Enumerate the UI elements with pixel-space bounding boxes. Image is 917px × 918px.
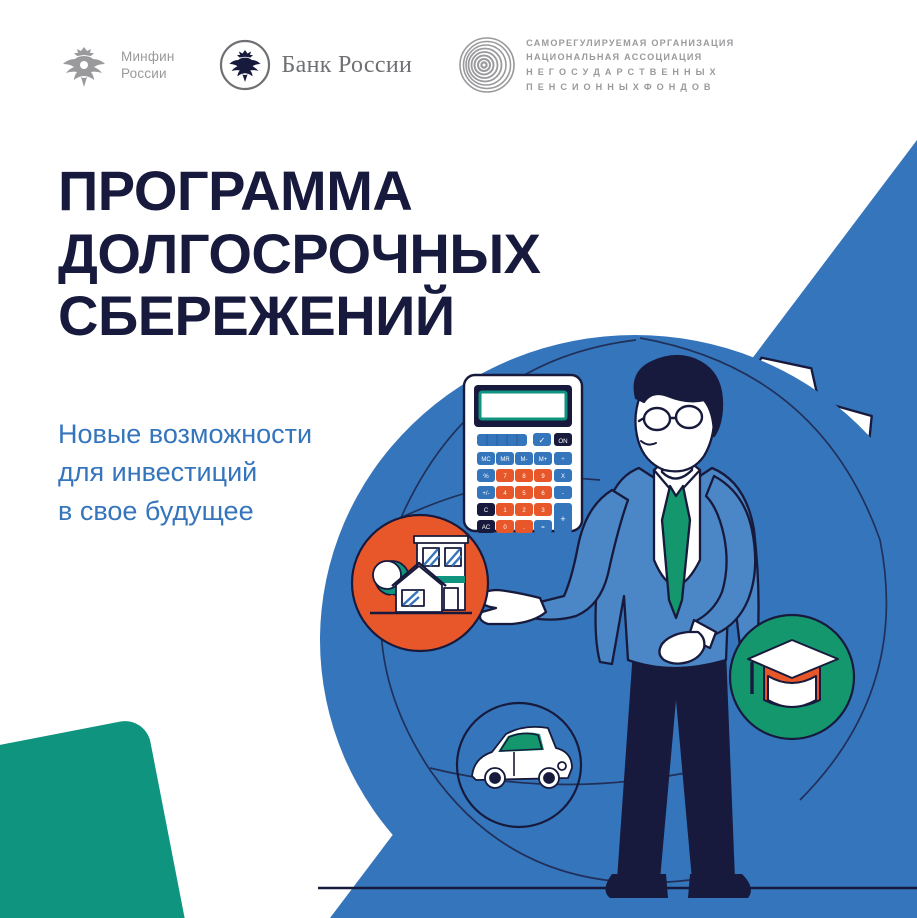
svg-text:M-: M- (521, 457, 528, 463)
shoe-left (605, 874, 668, 898)
logo-minfin-text: Минфин России (121, 48, 175, 83)
svg-text:%: % (483, 474, 489, 480)
house-badge (352, 515, 488, 651)
svg-text:✓: ✓ (539, 436, 546, 445)
svg-text:C: C (484, 508, 489, 514)
svg-text:=: = (541, 525, 545, 531)
svg-text:+: + (560, 514, 565, 524)
calculator: ✓ ON MC MR M- M+ ÷ % 7 8 9 X +/- 4 5 (464, 375, 582, 533)
graduation-badge (730, 615, 854, 739)
svg-text:ON: ON (558, 438, 567, 445)
bank-of-russia-eagle-icon (219, 39, 271, 91)
svg-text:X: X (561, 474, 565, 480)
hand-left (480, 590, 546, 624)
headline-line-3: СБЕРЕЖЕНИЙ (58, 285, 541, 348)
calc-slider-row (477, 434, 527, 446)
subhead-line-1: Новые возможности (58, 415, 312, 453)
page-subtitle: Новые возможности для инвестиций в свое … (58, 415, 312, 530)
headline-line-1: ПРОГРАММА (58, 160, 541, 223)
logo-bank-of-russia-text: Банк России (282, 50, 413, 81)
car-badge (457, 703, 581, 827)
logo-napf-text: САМОРЕГУЛИРУЕМАЯ ОРГАНИЗАЦИЯ НАЦИОНАЛЬНА… (526, 36, 734, 95)
logo-bank-of-russia: Банк России (219, 39, 413, 91)
trousers (617, 650, 735, 880)
spiral-icon (459, 37, 515, 93)
subhead-line-2: для инвестиций (58, 453, 312, 491)
svg-text:MC: MC (481, 457, 491, 463)
shoe-right (688, 874, 751, 898)
subhead-line-3: в свое будущее (58, 492, 312, 530)
svg-text:MR: MR (500, 457, 510, 463)
double-headed-eagle-icon (58, 39, 110, 91)
headline-line-2: ДОЛГОСРОЧНЫХ (58, 223, 541, 286)
svg-text:M+: M+ (539, 457, 548, 463)
logo-napf: САМОРЕГУЛИРУЕМАЯ ОРГАНИЗАЦИЯ НАЦИОНАЛЬНА… (459, 36, 734, 95)
logo-strip: Минфин России Банк России (0, 0, 917, 130)
svg-text:+/-: +/- (482, 491, 489, 497)
logo-minfin: Минфин России (58, 39, 175, 91)
svg-text:AC: AC (482, 525, 491, 531)
poster-root: ✓ ON MC MR M- M+ ÷ % 7 8 9 X +/- 4 5 (0, 0, 917, 918)
svg-text:-: - (562, 491, 564, 497)
page-title: ПРОГРАММА ДОЛГОСРОЧНЫХ СБЕРЕЖЕНИЙ (58, 160, 541, 348)
